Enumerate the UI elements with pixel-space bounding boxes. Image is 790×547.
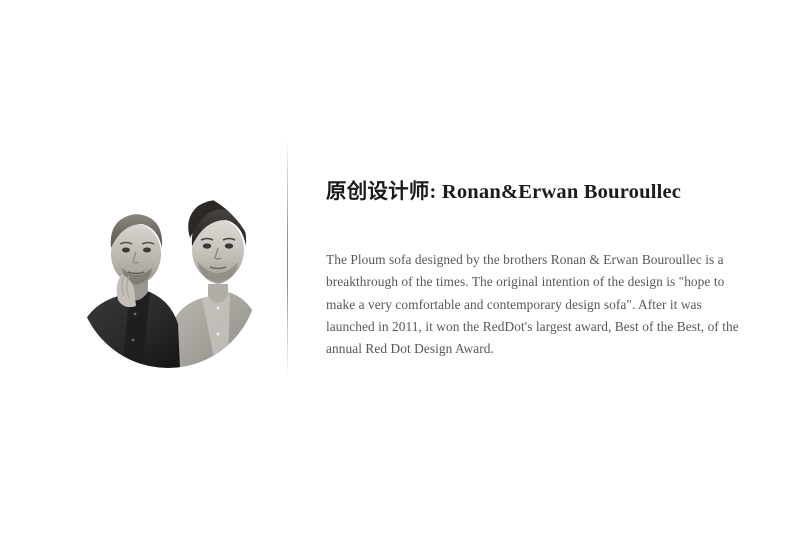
page-title: 原创设计师: Ronan&Erwan Bouroullec <box>326 178 741 206</box>
designer-portrait <box>78 188 258 368</box>
vertical-divider-line <box>287 140 288 376</box>
designer-description: The Ploum sofa designed by the brothers … <box>326 206 741 360</box>
portrait-circle-mask <box>78 188 258 368</box>
designer-portrait-photo <box>78 188 258 368</box>
designer-text-block: 原创设计师: Ronan&Erwan Bouroullec The Ploum … <box>326 178 741 360</box>
designer-profile-page: 原创设计师: Ronan&Erwan Bouroullec The Ploum … <box>0 0 790 547</box>
